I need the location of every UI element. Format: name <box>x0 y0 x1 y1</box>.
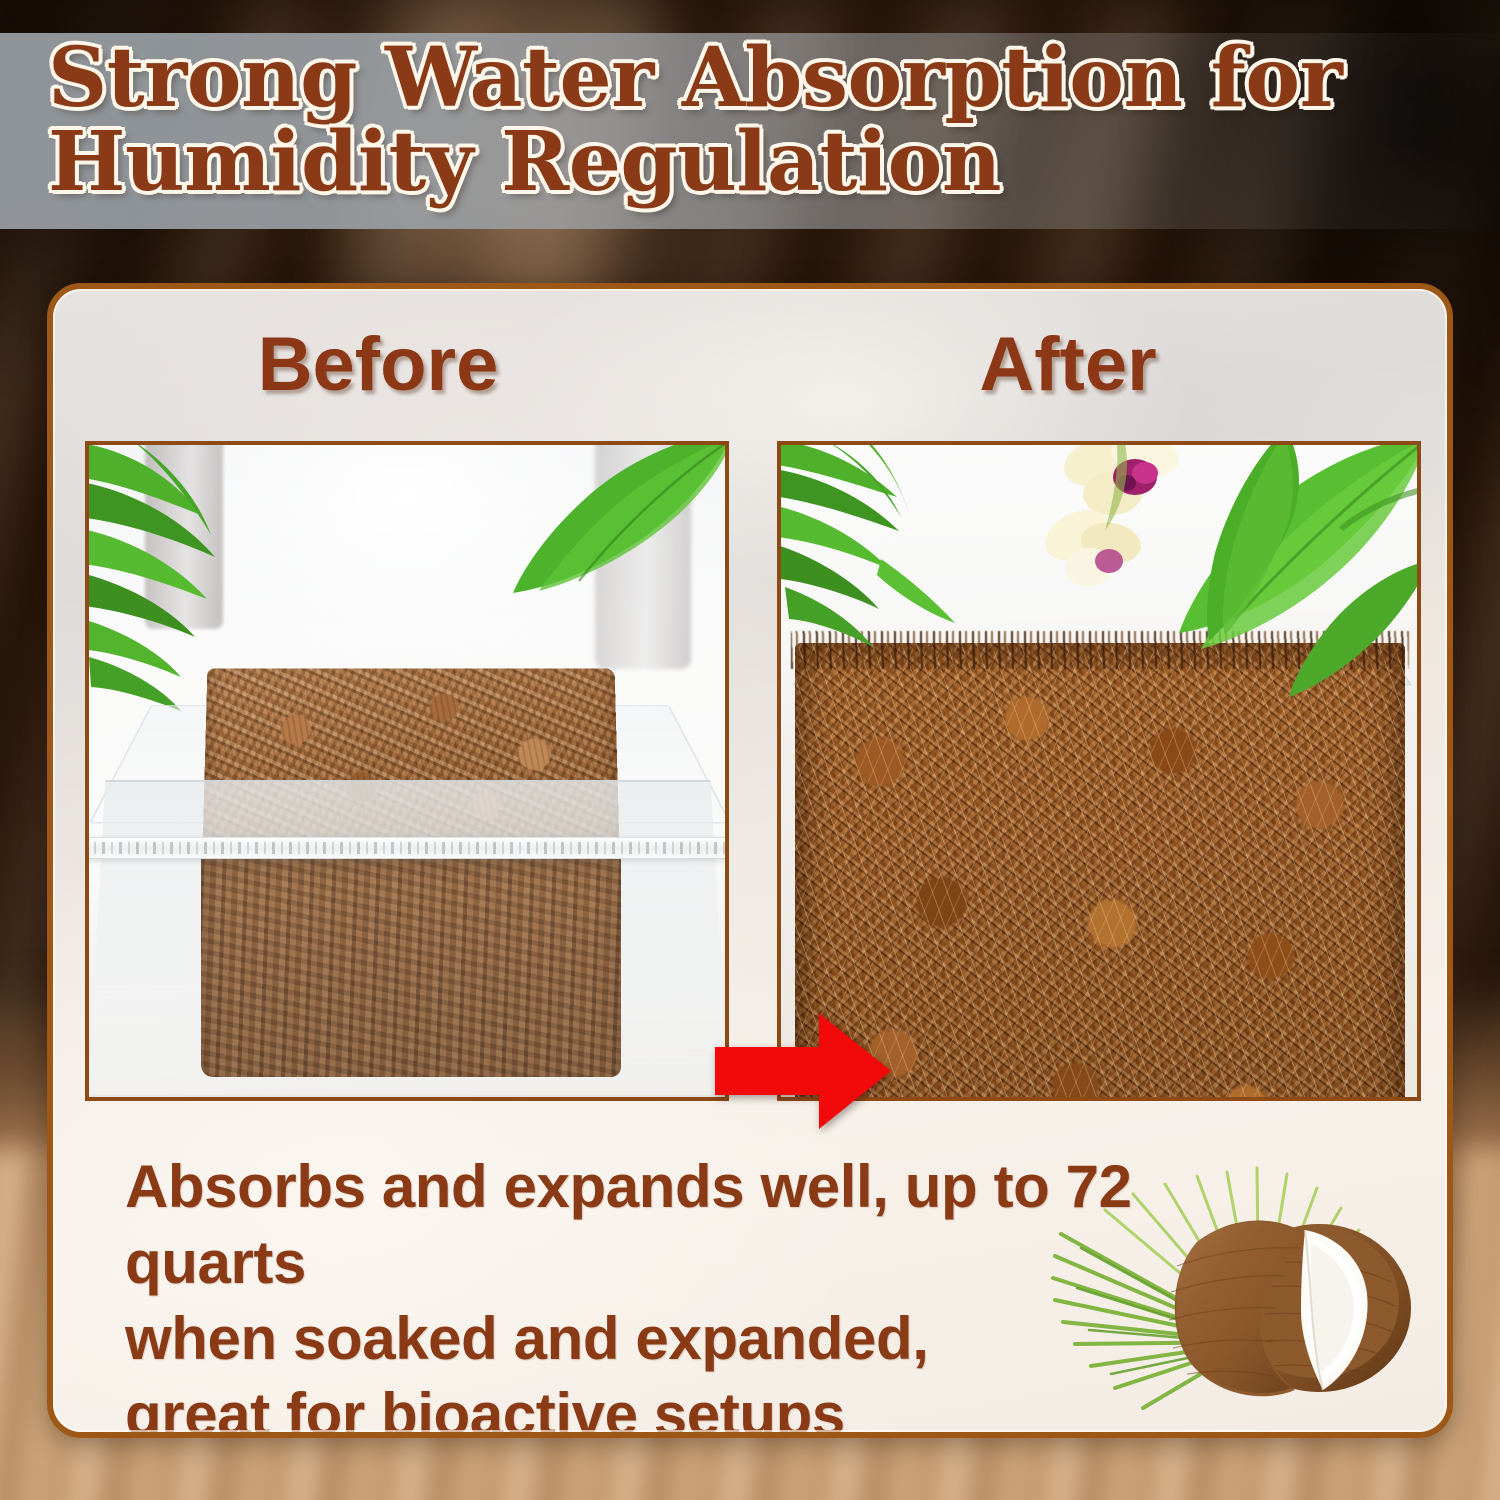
coconut-icon <box>1019 1126 1439 1426</box>
coco-brick-front-face <box>201 849 621 1077</box>
before-pothos-leaf-icon <box>481 445 725 601</box>
before-photo-frame <box>85 441 729 1101</box>
before-photo-image <box>89 445 725 1097</box>
before-label: Before <box>193 317 563 413</box>
after-palm-leaves-icon <box>781 445 993 685</box>
after-photo-image <box>781 445 1417 1097</box>
after-photo-frame <box>777 441 1421 1101</box>
headline-title: Strong Water Absorption for Humidity Reg… <box>48 36 1368 204</box>
comparison-caption-row: Before After <box>53 317 1447 421</box>
before-tank-lid-rail <box>89 837 725 859</box>
comparison-panel: Before After <box>47 283 1453 1438</box>
after-label: After <box>883 317 1253 413</box>
after-pothos-leaves-icon <box>1097 445 1417 729</box>
infographic-root: Strong Water Absorption for Humidity Reg… <box>0 0 1500 1500</box>
right-arrow-icon <box>715 1011 891 1131</box>
